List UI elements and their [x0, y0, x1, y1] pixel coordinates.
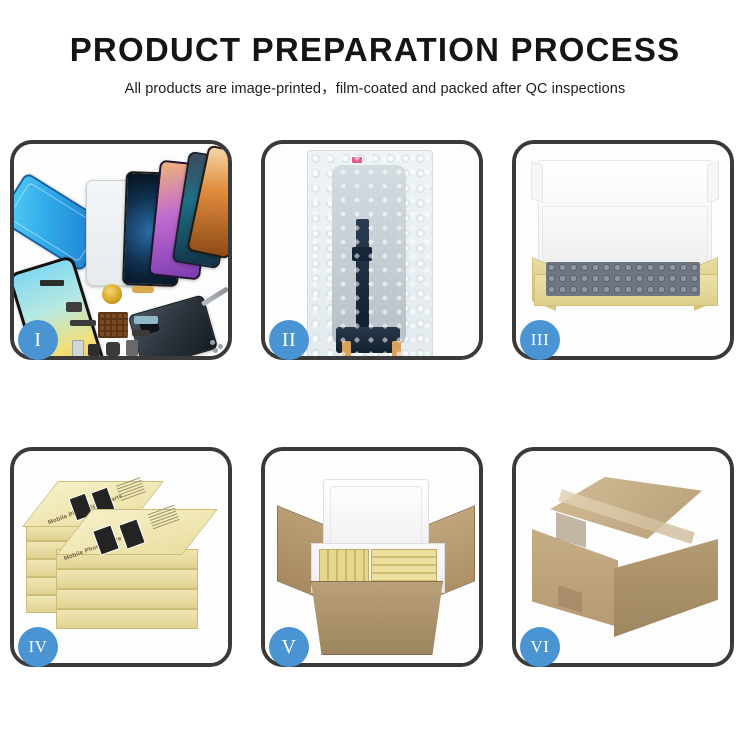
- step-badge-2: II: [269, 320, 309, 360]
- earpiece-speaker-part: [40, 280, 64, 286]
- step-badge-5: V: [269, 627, 309, 667]
- process-step-1: I: [10, 140, 232, 360]
- bubble-wrap-bag: [307, 150, 433, 356]
- screwdriver-tool-icon: [201, 286, 228, 306]
- adhesive-tab-left: [342, 341, 351, 356]
- page-subtitle: All products are image-printed，film-coat…: [0, 77, 750, 98]
- carton-body: [311, 581, 443, 655]
- step-badge-4: IV: [18, 627, 58, 667]
- charging-port-part: [126, 340, 138, 356]
- foam-lid: [323, 479, 429, 553]
- page-header: PRODUCT PREPARATION PROCESS All products…: [0, 0, 750, 98]
- sim-tray-part: [66, 302, 82, 312]
- step-badge-6: VI: [520, 627, 560, 667]
- speaker-coil-part: [102, 284, 122, 304]
- page-title: PRODUCT PREPARATION PROCESS: [0, 33, 750, 68]
- circuit-grid-part: [98, 312, 128, 338]
- step-badge-3: III: [520, 320, 560, 360]
- process-step-5: V: [261, 447, 483, 667]
- battery-connector-part: [72, 340, 84, 356]
- process-step-3: III: [512, 140, 734, 360]
- step-badge-1: I: [18, 320, 58, 360]
- process-step-4: Mobile Phone Spare Parts Mob: [10, 447, 232, 667]
- flex-cable-blue: [134, 316, 158, 324]
- bubble-wrapped-contents: [546, 262, 700, 296]
- screws-group: [210, 340, 228, 352]
- camera-module-part: [88, 344, 100, 356]
- display-connector: [352, 247, 372, 261]
- display-flex-cable: [356, 219, 369, 331]
- sealed-shipping-carton: [532, 477, 718, 639]
- process-step-grid: I II: [10, 140, 740, 667]
- flex-cable-small: [132, 330, 150, 336]
- carton-right-face: [614, 539, 718, 637]
- stacked-box: [56, 569, 198, 589]
- product-preparation-page: PRODUCT PREPARATION PROCESS All products…: [0, 0, 750, 750]
- stacked-box: [56, 609, 198, 629]
- flex-cable-gold: [132, 286, 154, 293]
- process-step-6: VI: [512, 447, 734, 667]
- flex-cable-dark: [70, 320, 96, 326]
- process-step-2: II: [261, 140, 483, 360]
- qc-sticker: [352, 157, 362, 163]
- shipping-carton-open: [279, 473, 473, 655]
- vibrator-motor-part: [106, 342, 120, 356]
- stacked-box: [56, 589, 198, 609]
- adhesive-tab-right: [392, 341, 401, 356]
- retail-box-stack: Mobile Phone Spare Parts Mob: [22, 465, 228, 657]
